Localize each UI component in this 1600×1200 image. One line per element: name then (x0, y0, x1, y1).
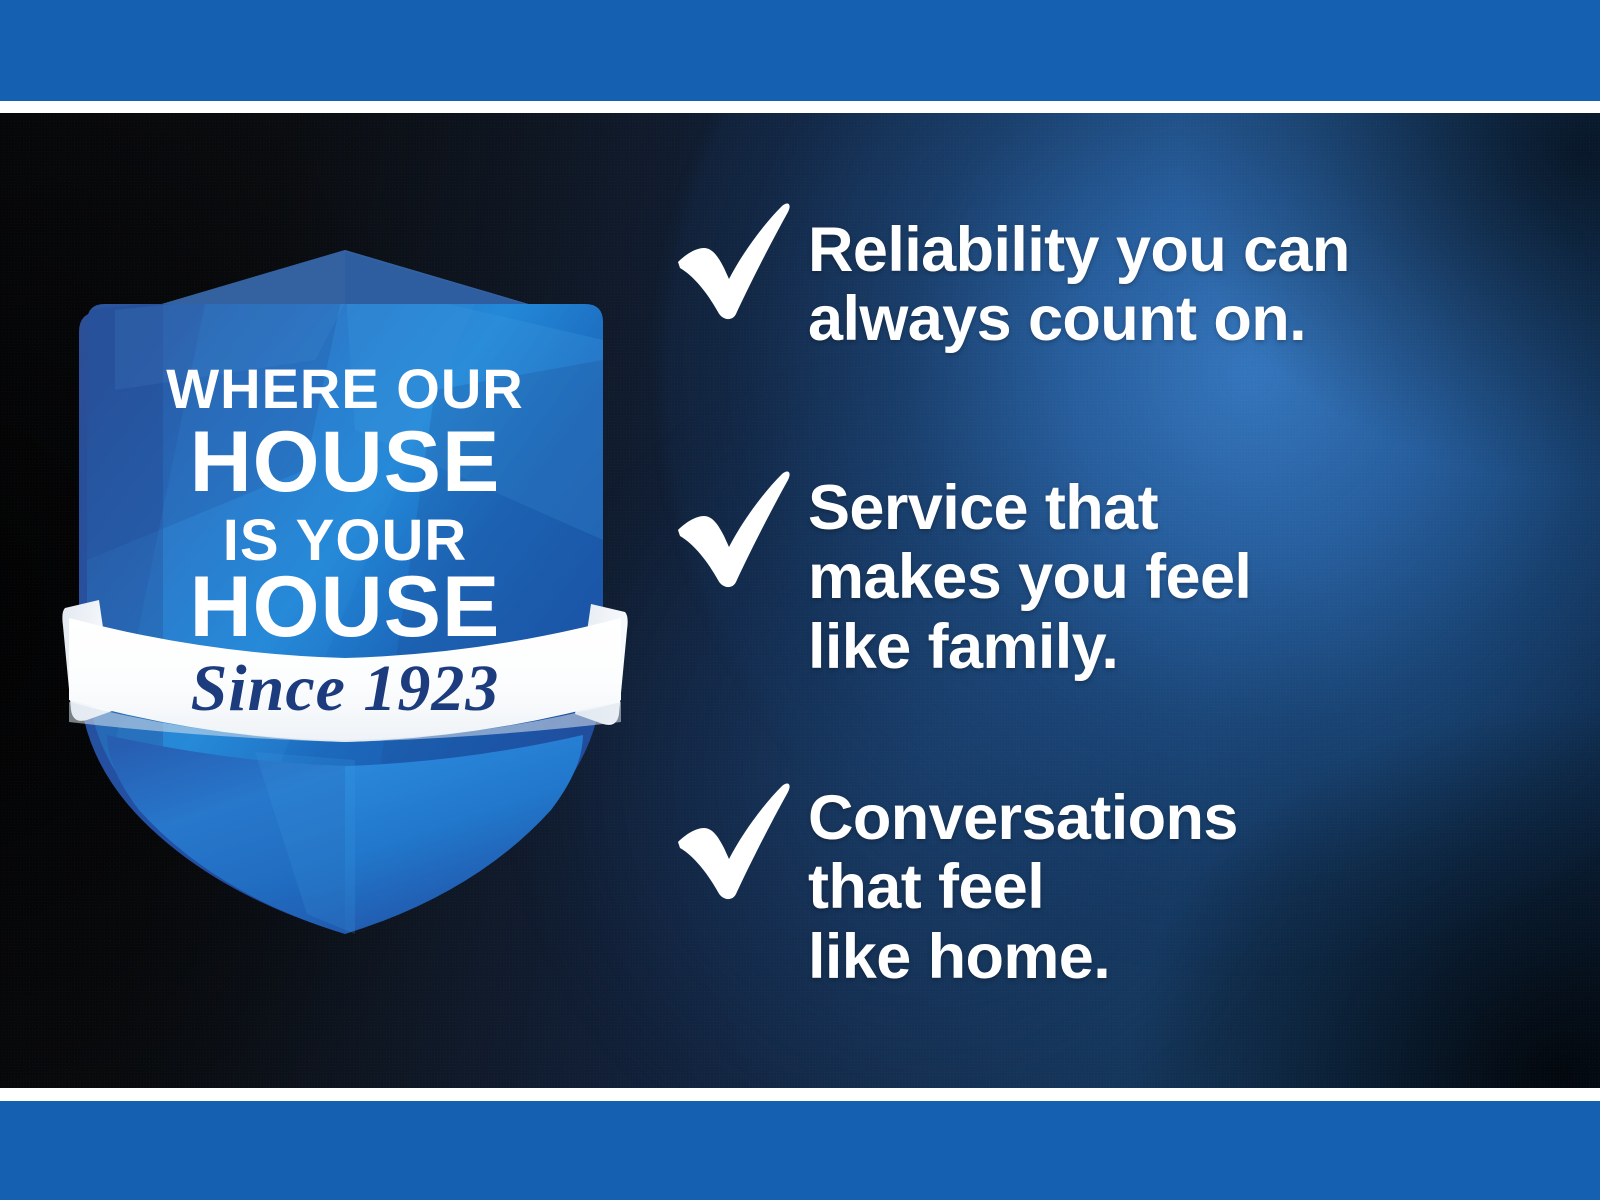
benefit-item-3: Conversations that feel like home. (672, 776, 1238, 992)
bottom-brand-bar (0, 1101, 1600, 1200)
checkmark-icon (672, 464, 794, 588)
shield-lower-point (107, 735, 583, 934)
benefit-text-3: Conversations that feel like home. (808, 776, 1238, 992)
benefit-item-2: Service that makes you feel like family. (672, 464, 1251, 682)
shield-badge: WHERE OUR HOUSE IS YOUR HOUSE Since 1923 (55, 240, 635, 940)
benefit-item-1: Reliability you can always count on. (672, 196, 1350, 355)
benefit-text-1: Reliability you can always count on. (808, 196, 1350, 355)
checkmark-icon (672, 776, 794, 900)
logo-line-4: HOUSE (190, 559, 501, 655)
checkmark-icon (672, 196, 794, 320)
benefits-list: Reliability you can always count on. Ser… (672, 196, 1532, 1026)
promo-graphic-canvas: WHERE OUR HOUSE IS YOUR HOUSE Since 1923 (0, 0, 1600, 1200)
badge-logo-text: WHERE OUR HOUSE IS YOUR HOUSE (166, 357, 523, 655)
benefit-text-2: Service that makes you feel like family. (808, 464, 1251, 682)
banner-since-text: Since 1923 (191, 652, 500, 725)
top-brand-bar (0, 0, 1600, 101)
logo-line-2: HOUSE (190, 414, 501, 510)
logo-line-1: WHERE OUR (166, 357, 523, 420)
